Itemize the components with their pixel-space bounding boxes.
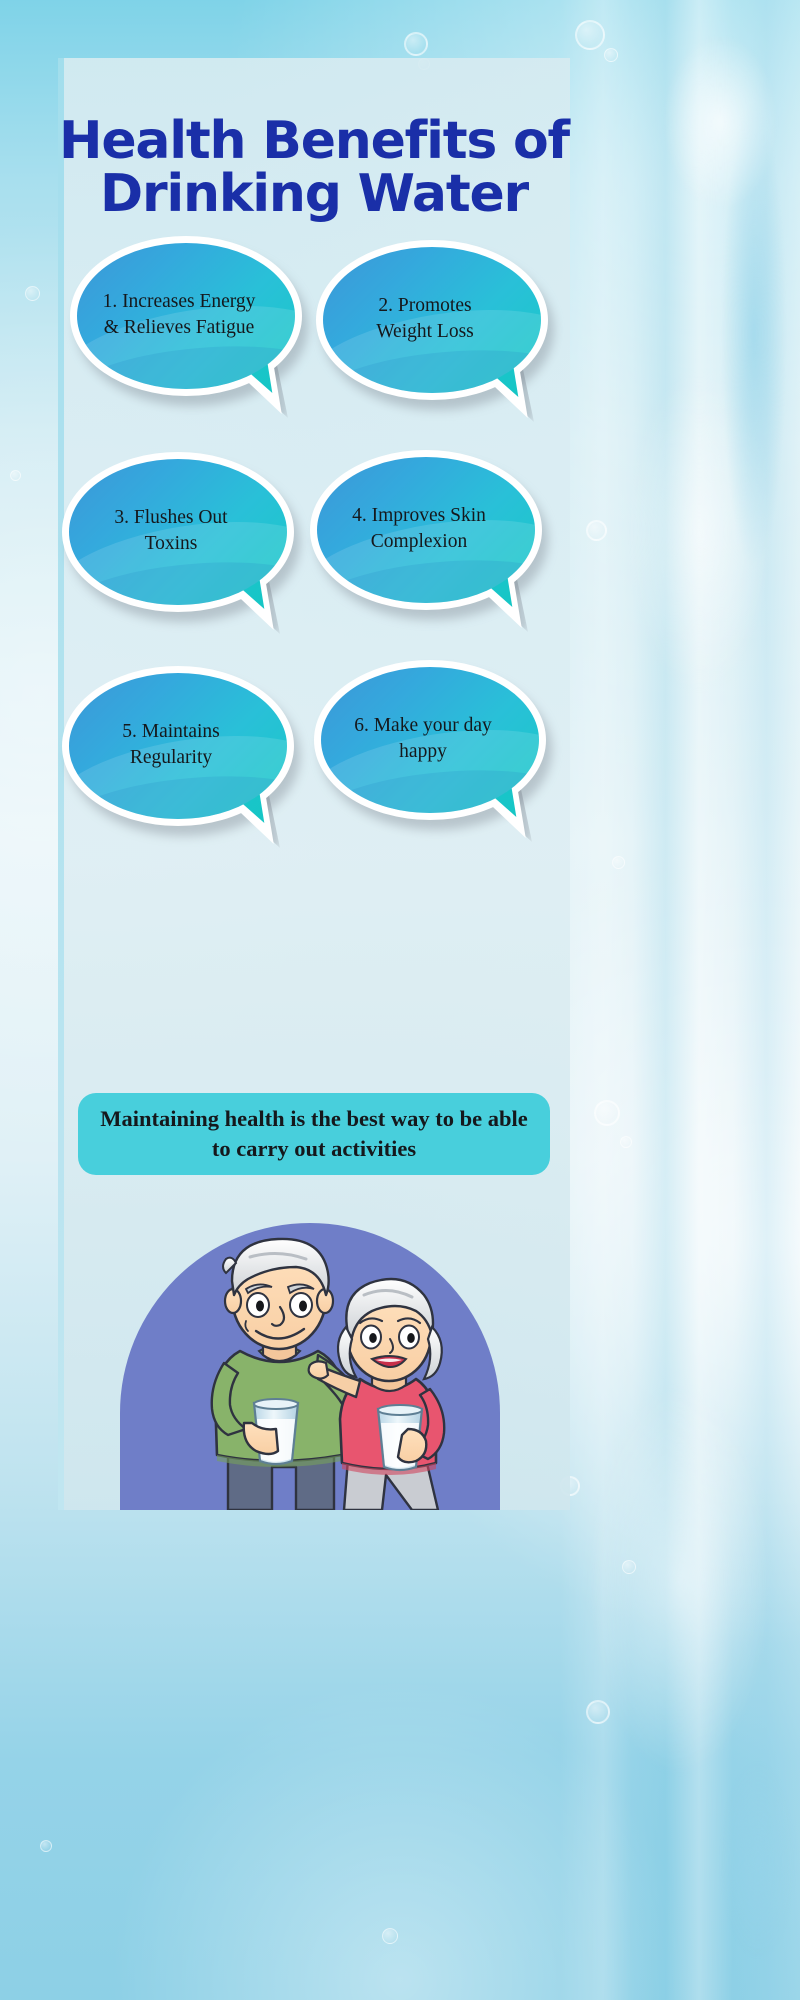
glass-rim — [254, 1399, 298, 1409]
page-title-line-2: Drinking Water — [58, 168, 570, 221]
water-splash-upper — [590, 0, 800, 760]
benefits-list: 1. Increases Energy& Relieves Fatigue 2.… — [58, 236, 570, 836]
illustration-arch-backdrop — [120, 1223, 500, 1510]
benefit-bubble-5[interactable]: 5. MaintainsRegularity — [62, 666, 294, 832]
benefit-bubble-6[interactable]: 6. Make your dayhappy — [314, 660, 546, 826]
benefit-bubble-3[interactable]: 3. Flushes OutToxins — [62, 452, 294, 618]
bubble-drop-icon — [586, 520, 607, 541]
bubble-drop-icon — [40, 1840, 52, 1852]
bubble-drop-icon — [404, 32, 428, 56]
benefit-bubble-1[interactable]: 1. Increases Energy& Relieves Fatigue — [70, 236, 302, 402]
illustration-elderly-couple — [120, 1223, 500, 1510]
glass-rim — [378, 1405, 422, 1415]
benefit-label-2: 2. PromotesWeight Loss — [330, 240, 520, 392]
man-pupil-left — [256, 1301, 264, 1312]
woman-pupil-right — [407, 1333, 415, 1343]
woman-hand-on-shoulder — [309, 1361, 328, 1378]
woman-pupil-left — [369, 1333, 377, 1343]
summary-banner: Maintaining health is the best way to be… — [78, 1093, 550, 1175]
man-pupil-right — [299, 1301, 307, 1312]
bubble-drop-icon — [25, 286, 40, 301]
bubble-drop-icon — [594, 1100, 620, 1126]
water-splash-lower — [550, 1300, 800, 2000]
benefit-label-5: 5. MaintainsRegularity — [76, 666, 266, 818]
benefit-label-4: 4. Improves SkinComplexion — [324, 450, 514, 602]
bubble-drop-icon — [575, 20, 605, 50]
benefit-label-6: 6. Make your dayhappy — [328, 660, 518, 812]
page-title-line-1: Health Benefits of — [58, 115, 570, 168]
bubble-drop-icon — [604, 48, 618, 62]
bubble-drop-icon — [612, 856, 625, 869]
benefit-label-1: 1. Increases Energy& Relieves Fatigue — [84, 236, 274, 388]
summary-banner-text: Maintaining health is the best way to be… — [94, 1104, 534, 1165]
bubble-drop-icon — [586, 1700, 610, 1724]
bubble-drop-icon — [10, 470, 21, 481]
benefit-bubble-4[interactable]: 4. Improves SkinComplexion — [310, 450, 542, 616]
bubble-drop-icon — [620, 1136, 632, 1148]
elderly-couple-illustration — [120, 1223, 500, 1510]
benefit-bubble-2[interactable]: 2. PromotesWeight Loss — [316, 240, 548, 406]
page-title: Health Benefits of Drinking Water — [58, 115, 570, 221]
woman-hand — [398, 1429, 426, 1462]
benefit-label-3: 3. Flushes OutToxins — [76, 452, 266, 604]
bubble-drop-icon — [622, 1560, 636, 1574]
bubble-drop-icon — [382, 1928, 398, 1944]
